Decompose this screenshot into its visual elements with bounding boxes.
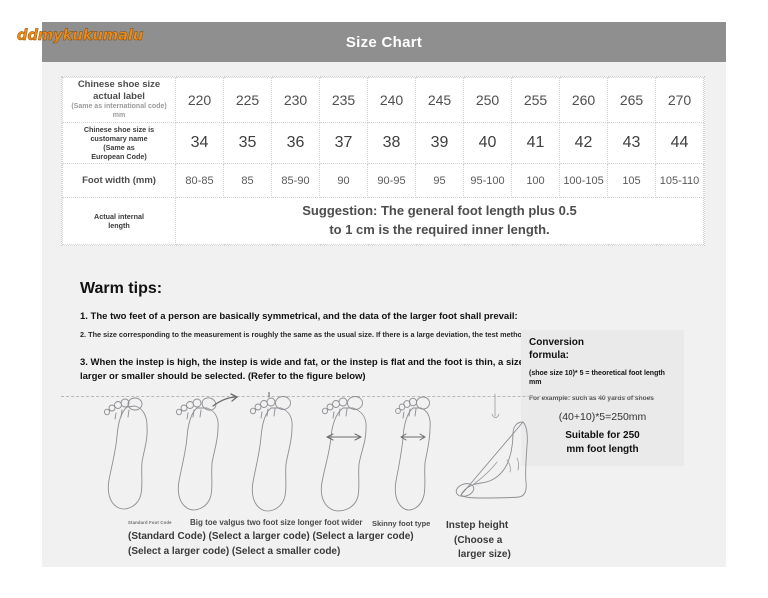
row-header-eu-line2: customary name — [63, 134, 175, 143]
size-chart-page: Size Chart ddmykukumalu Chinese shoe siz… — [0, 0, 768, 598]
table-row: Foot width (mm) 80-85 85 85-90 90 90-95 … — [63, 164, 704, 198]
foot-diagram-svg — [99, 392, 529, 517]
row-header-eu-sub2: European Code) — [63, 152, 175, 161]
cell-mm-9: 265 — [608, 78, 656, 123]
cell-eu-0: 34 — [176, 123, 224, 164]
row-header-mm-sub: (Same as international code) — [63, 103, 175, 112]
caption-code-advice-line2: (Select a larger code) (Select a smaller… — [128, 545, 458, 560]
caption-standard-foot-code: Standard Foot Code — [128, 520, 172, 525]
foot-side-profile-instep — [455, 394, 528, 498]
cell-width-3: 90 — [320, 164, 368, 198]
row-header-mm: Chinese shoe size actual label (Same as … — [63, 78, 176, 123]
caption-instep-line2: (Choose a — [446, 534, 556, 549]
foot-skinny — [395, 397, 430, 510]
warm-tips-title: Warm tips: — [80, 280, 162, 298]
cell-width-2: 85-90 — [272, 164, 320, 198]
foot-big-toe-valgus — [176, 394, 237, 510]
cell-eu-8: 42 — [560, 123, 608, 164]
row-header-foot-width: Foot width (mm) — [63, 164, 176, 198]
caption-skinny-foot: Skinny foot type — [372, 519, 430, 528]
cell-eu-5: 39 — [416, 123, 464, 164]
row-header-mm-line2: actual label — [63, 91, 175, 103]
caption-instep-line3: larger size) — [446, 548, 556, 563]
conversion-title-line1: Conversion — [529, 336, 676, 349]
cell-eu-6: 40 — [464, 123, 512, 164]
row-header-mm-line1: Chinese shoe size — [63, 79, 175, 91]
row-header-internal-length-line1: Actual internal — [63, 212, 175, 221]
caption-foot-types: Big toe valgus two foot size longer foot… — [190, 518, 362, 527]
brand-logo: ddmykukumalu — [0, 20, 160, 50]
cell-mm-0: 220 — [176, 78, 224, 123]
size-chart-sheet: Size Chart ddmykukumalu Chinese shoe siz… — [42, 22, 726, 567]
cell-mm-6: 250 — [464, 78, 512, 123]
cell-width-7: 100 — [512, 164, 560, 198]
cell-eu-7: 41 — [512, 123, 560, 164]
size-table-container: Chinese shoe size actual label (Same as … — [61, 76, 705, 246]
cell-width-8: 100-105 — [560, 164, 608, 198]
conversion-example-calc: (40+10)*5=250mm — [529, 411, 676, 425]
warm-tip-3: 3. When the instep is high, the instep i… — [80, 356, 550, 384]
row-header-mm-unit: mm — [63, 112, 175, 121]
cell-width-10: 105-110 — [656, 164, 704, 198]
cell-width-5: 95 — [416, 164, 464, 198]
cell-mm-8: 260 — [560, 78, 608, 123]
cell-eu-4: 38 — [368, 123, 416, 164]
row-header-eu: Chinese shoe size is customary name (Sam… — [63, 123, 176, 164]
cell-width-9: 105 — [608, 164, 656, 198]
cell-eu-1: 35 — [224, 123, 272, 164]
caption-instep-height: Instep height (Choose a larger size) — [446, 519, 556, 563]
warm-tip-1: 1. The two feet of a person are basicall… — [80, 310, 580, 323]
row-header-internal-length: Actual internal length — [63, 198, 176, 245]
cell-mm-2: 230 — [272, 78, 320, 123]
caption-code-advice-line1: (Standard Code) (Select a larger code) (… — [128, 530, 458, 545]
cell-mm-10: 270 — [656, 78, 704, 123]
brand-logo-text: ddmykukumalu — [17, 26, 143, 44]
conversion-formula-title: Conversion formula: — [529, 336, 676, 362]
cell-eu-2: 36 — [272, 123, 320, 164]
table-row: Actual internal length Suggestion: The g… — [63, 198, 704, 245]
cell-width-0: 80-85 — [176, 164, 224, 198]
foot-standard — [104, 398, 147, 509]
foot-types-figure — [99, 392, 529, 517]
conversion-result-line1: Suitable for 250 — [529, 429, 676, 443]
cell-eu-9: 43 — [608, 123, 656, 164]
cell-mm-1: 225 — [224, 78, 272, 123]
conversion-example-result: Suitable for 250 mm foot length — [529, 429, 676, 456]
row-header-eu-sub: (Same as — [63, 143, 175, 152]
foot-wider — [321, 397, 366, 511]
cell-width-1: 85 — [224, 164, 272, 198]
internal-length-note-line2: to 1 cm is the required inner length. — [176, 221, 703, 240]
internal-length-note-line1: Suggestion: The general foot length plus… — [176, 202, 703, 221]
cell-mm-3: 235 — [320, 78, 368, 123]
cell-mm-5: 245 — [416, 78, 464, 123]
row-header-internal-length-line2: length — [63, 221, 175, 230]
table-row: Chinese shoe size actual label (Same as … — [63, 78, 704, 123]
caption-code-advice: (Standard Code) (Select a larger code) (… — [128, 530, 458, 559]
cell-mm-7: 255 — [512, 78, 560, 123]
conversion-title-line2: formula: — [529, 349, 676, 362]
caption-instep-line1: Instep height — [446, 520, 508, 531]
cell-mm-4: 240 — [368, 78, 416, 123]
conversion-formula-text: (shoe size 10)* 5 = theoretical foot len… — [529, 369, 676, 387]
conversion-formula-box: Conversion formula: (shoe size 10)* 5 = … — [521, 330, 684, 466]
conversion-result-line2: mm foot length — [529, 443, 676, 457]
cell-eu-10: 44 — [656, 123, 704, 164]
table-row: Chinese shoe size is customary name (Sam… — [63, 123, 704, 164]
cell-width-6: 95-100 — [464, 164, 512, 198]
foot-longer — [250, 392, 292, 511]
row-header-eu-line1: Chinese shoe size is — [63, 125, 175, 134]
internal-length-note: Suggestion: The general foot length plus… — [176, 198, 704, 245]
cell-eu-3: 37 — [320, 123, 368, 164]
row-header-foot-width-label: Foot width (mm) — [63, 175, 175, 187]
size-table: Chinese shoe size actual label (Same as … — [62, 77, 704, 245]
cell-width-4: 90-95 — [368, 164, 416, 198]
